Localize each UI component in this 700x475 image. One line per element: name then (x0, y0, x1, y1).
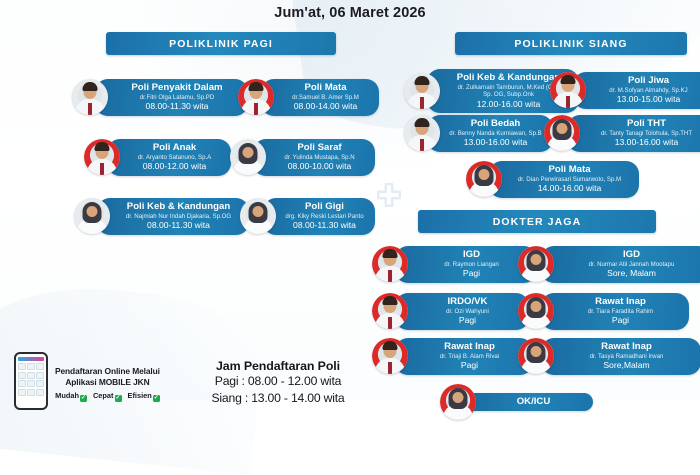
doctor-name: dr.Fitri Olga Latamu, Sp.PD (115, 94, 239, 102)
doctor-card: Poli Matadr.Samuel B. Amer Sp.M08.00-14.… (238, 79, 379, 116)
poli-name: OK/ICU (483, 397, 584, 408)
doctor-name: dr. Yulinda Mustapa, Sp.N (273, 154, 366, 162)
doctor-card: Poli THTdr. Tanty Tanagi Tolohula, Sp.TH… (544, 115, 700, 152)
service-hours: 08.00-14.00 wita (281, 101, 370, 111)
doctor-card: Rawat Inapdr. Tasya Ramadhani IrwanSore,… (518, 338, 700, 375)
photo-hair (83, 82, 98, 91)
photo-hair (415, 76, 430, 85)
section-header-poliklinik-siang: POLIKLINIK SIANG (455, 32, 687, 55)
registration-hours-morning: Pagi : 08.00 - 12.00 wita (178, 373, 378, 390)
service-hours: 08.00-10.00 wita (273, 161, 366, 171)
doctor-card-pill: Poli Jiwadr. M.Sofyan Almahdy, Sp.KJ13.0… (573, 72, 700, 109)
service-hours: 13.00-16.00 wita (447, 137, 544, 147)
check-icon: ✓ (115, 395, 122, 402)
poli-name: Rawat Inap (415, 342, 524, 353)
doctor-photo (404, 115, 440, 151)
doctor-photo (518, 246, 554, 282)
doctor-card-pill: Rawat Inapdr. Tasya Ramadhani IrwanSore,… (541, 338, 700, 375)
doctor-card-pill: OK/ICU (463, 393, 593, 412)
section-header-poliklinik-pagi: POLIKLINIK PAGI (106, 32, 336, 55)
photo-tie (420, 139, 424, 151)
doctor-name: dr. Tanty Tanagi Tolohula, Sp.THT (587, 130, 700, 138)
check-icon: ✓ (80, 395, 87, 402)
photo-tie (420, 97, 424, 109)
poli-name: Poli Gigi (283, 202, 366, 213)
registration-hours-afternoon: Siang : 13.00 - 14.00 wita (178, 390, 378, 407)
poli-name: IGD (415, 250, 528, 261)
photo-hair (383, 341, 398, 350)
doctor-name: dr.Samuel B. Amer Sp.M (281, 94, 370, 102)
mobile-jkn-promo: Pendaftaran Online Melalui Aplikasi MOBI… (14, 352, 160, 410)
jkn-feature-3: Efisien✓ (128, 391, 160, 402)
doctor-photo (518, 338, 554, 374)
poli-name: Rawat Inap (561, 297, 680, 308)
doctor-card: Poli Bedahdr. Benny Nanda Kurniawan, Sp.… (404, 115, 553, 152)
doctor-card-pill: Poli Matadr. Dian Perwirasari Sumarwoto,… (489, 161, 639, 198)
jkn-line-1: Pendaftaran Online Melalui (55, 366, 160, 377)
poli-name: Poli Mata (509, 165, 630, 176)
check-icon: ✓ (153, 395, 160, 402)
service-hours: 08.00-11.30 wita (115, 101, 239, 111)
doctor-card-pill: Rawat Inapdr. Triaji B. Alam RivaiPagi (395, 338, 533, 375)
doctor-name: dr. M.Sofyan Almahdy, Sp.KJ (593, 87, 700, 95)
doctor-card-pill: Poli Penyakit Dalamdr.Fitri Olga Latamu,… (95, 79, 248, 116)
service-hours: 08.00-11.30 wita (117, 220, 240, 230)
doctor-name: dr. Tiara Faradita Rahim (561, 308, 680, 316)
doctor-photo (84, 139, 120, 175)
service-hours: Pagi (415, 268, 528, 278)
photo-hair (95, 142, 110, 151)
doctor-photo (550, 72, 586, 108)
doctor-photo (72, 79, 108, 115)
photo-hair (383, 296, 398, 305)
photo-head (253, 206, 264, 217)
photo-hair (249, 82, 264, 91)
photo-tie (254, 103, 258, 115)
jkn-line-2: Aplikasi MOBILE JKN (55, 377, 160, 388)
jkn-text-block: Pendaftaran Online Melalui Aplikasi MOBI… (55, 352, 160, 402)
doctor-card-pill: IGDdr. Raymon LianganPagi (395, 246, 537, 283)
poli-name: Poli Jiwa (593, 76, 700, 87)
poli-name: Poli Mata (281, 83, 370, 94)
doctor-photo (404, 73, 440, 109)
poli-name: Poli Bedah (447, 119, 544, 130)
service-hours: 13.00-16.00 wita (587, 137, 700, 147)
photo-head (87, 206, 98, 217)
poli-name: IRDO/VK (415, 297, 520, 308)
photo-tie (88, 103, 92, 115)
doctor-card: Rawat Inapdr. Triaji B. Alam RivaiPagi (372, 338, 533, 375)
doctor-photo (230, 139, 266, 175)
jkn-feature-list: Mudah✓Cepat✓Efisien✓ (55, 391, 160, 402)
smartphone-icon (14, 352, 48, 410)
service-hours: 13.00-15.00 wita (593, 94, 700, 104)
poli-name: Poli THT (587, 119, 700, 130)
photo-head (531, 254, 542, 265)
poli-name: IGD (561, 250, 700, 261)
service-hours: Pagi (415, 315, 520, 325)
doctor-card: IRDO/VKdr. Ozi WahyuniPagi (372, 293, 529, 330)
service-hours: Pagi (415, 360, 524, 370)
doctor-card-pill: Poli Anakdr. Aryanto Satanuno, Sp.A08.00… (107, 139, 231, 176)
photo-tie (388, 362, 392, 374)
plus-decoration-icon (376, 182, 402, 208)
photo-hair (383, 249, 398, 258)
service-hours: 12.00-16.00 wita (447, 99, 570, 109)
section-header-dokter-jaga: DOKTER JAGA (418, 210, 656, 233)
doctor-name: dr. Benny Nanda Kurniawan, Sp.B (447, 130, 544, 138)
poli-name: Rawat Inap (561, 342, 692, 353)
photo-tie (388, 317, 392, 329)
phone-statusbar (18, 357, 44, 361)
doctor-card-pill: Rawat Inapdr. Tiara Faradita RahimPagi (541, 293, 689, 330)
schedule-poster: Jum'at, 06 Maret 2026 POLIKLINIK PAGI PO… (0, 0, 700, 400)
doctor-name: drg. Kiky Reski Lestari Panto (283, 213, 366, 221)
doctor-card: Poli Jiwadr. M.Sofyan Almahdy, Sp.KJ13.0… (550, 72, 700, 109)
photo-head (557, 123, 568, 134)
doctor-name: dr. Dian Perwirasari Sumarwoto, Sp.M (509, 176, 630, 184)
doctor-card-pill: Poli THTdr. Tanty Tanagi Tolohula, Sp.TH… (567, 115, 700, 152)
doctor-name: dr. Triaji B. Alam Rivai (415, 353, 524, 361)
doctor-card-pill: Poli Keb & Kandungandr. Najmiah Nur Inda… (97, 198, 249, 235)
doctor-name: dr. Nurmar Atil Jannah Mootapu (561, 261, 700, 269)
doctor-photo (240, 198, 276, 234)
doctor-photo (544, 115, 580, 151)
doctor-card: IGDdr. Nurmar Atil Jannah MootapuSore, M… (518, 246, 700, 283)
doctor-card: Rawat Inapdr. Tiara Faradita RahimPagi (518, 293, 689, 330)
doctor-photo (518, 293, 554, 329)
photo-head (453, 392, 464, 403)
poster-date: Jum'at, 06 Maret 2026 (0, 5, 700, 21)
photo-head (243, 147, 254, 158)
doctor-photo (238, 79, 274, 115)
doctor-name: dr. Ozi Wahyuni (415, 308, 520, 316)
photo-head (531, 301, 542, 312)
poli-name: Poli Anak (127, 143, 222, 154)
photo-hair (561, 75, 576, 84)
doctor-card: OK/ICU (440, 384, 593, 420)
service-hours: 08.00-12.00 wita (127, 161, 222, 171)
registration-hours-title: Jam Pendaftaran Poli (178, 359, 378, 373)
photo-hair (415, 118, 430, 127)
photo-tie (388, 270, 392, 282)
doctor-photo (372, 338, 408, 374)
doctor-card: Poli Sarafdr. Yulinda Mustapa, Sp.N08.00… (230, 139, 375, 176)
doctor-card-pill: Poli Gigidrg. Kiky Reski Lestari Panto08… (263, 198, 375, 235)
doctor-card: Poli Penyakit Dalamdr.Fitri Olga Latamu,… (72, 79, 248, 116)
doctor-photo (74, 198, 110, 234)
doctor-card-pill: Poli Bedahdr. Benny Nanda Kurniawan, Sp.… (427, 115, 553, 152)
doctor-card: Poli Matadr. Dian Perwirasari Sumarwoto,… (466, 161, 639, 198)
jkn-feature-2: Cepat✓ (93, 391, 122, 402)
doctor-card-pill: IRDO/VKdr. Ozi WahyuniPagi (395, 293, 529, 330)
service-hours: 08.00-11.30 wita (283, 220, 366, 230)
doctor-card-pill: IGDdr. Nurmar Atil Jannah MootapuSore, M… (541, 246, 700, 283)
doctor-photo (440, 384, 476, 420)
doctor-card: Poli Gigidrg. Kiky Reski Lestari Panto08… (240, 198, 375, 235)
doctor-card: Poli Anakdr. Aryanto Satanuno, Sp.A08.00… (84, 139, 231, 176)
doctor-name: dr. Aryanto Satanuno, Sp.A (127, 154, 222, 162)
photo-tie (566, 96, 570, 108)
doctor-name: dr. Najmiah Nur Indah Djakaria, Sp.OG (117, 213, 240, 221)
service-hours: Pagi (561, 315, 680, 325)
doctor-photo (372, 293, 408, 329)
doctor-card: Poli Keb & Kandungandr. Najmiah Nur Inda… (74, 198, 249, 235)
phone-app-grid (18, 363, 44, 396)
doctor-name: dr. Tasya Ramadhani Irwan (561, 353, 692, 361)
service-hours: 14.00-16.00 wita (509, 183, 630, 193)
poli-name: Poli Saraf (273, 143, 366, 154)
poli-name: Poli Keb & Kandungan (117, 202, 240, 213)
doctor-card: IGDdr. Raymon LianganPagi (372, 246, 537, 283)
service-hours: Sore, Malam (561, 268, 700, 278)
doctor-photo (372, 246, 408, 282)
doctor-photo (466, 161, 502, 197)
registration-hours-block: Jam Pendaftaran Poli Pagi : 08.00 - 12.0… (178, 359, 378, 408)
service-hours: Sore,Malam (561, 360, 692, 370)
poli-name: Poli Penyakit Dalam (115, 83, 239, 94)
photo-tie (100, 163, 104, 175)
doctor-card-pill: Poli Sarafdr. Yulinda Mustapa, Sp.N08.00… (253, 139, 375, 176)
doctor-card-pill: Poli Matadr.Samuel B. Amer Sp.M08.00-14.… (261, 79, 379, 116)
photo-head (531, 346, 542, 357)
jkn-feature-1: Mudah✓ (55, 391, 87, 402)
doctor-name: dr. Raymon Liangan (415, 261, 528, 269)
photo-head (479, 169, 490, 180)
